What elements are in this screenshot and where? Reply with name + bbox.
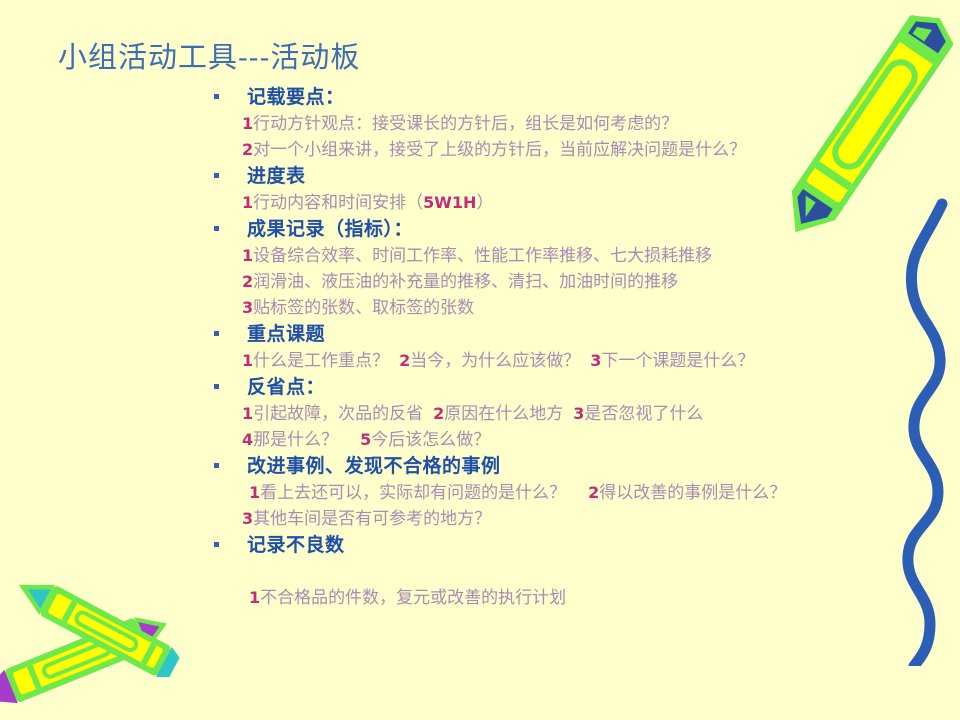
item-number: 4 [242, 430, 253, 449]
item-number: 2 [399, 351, 410, 370]
bullet-square-icon [214, 542, 219, 547]
item-text: 那是什么？ [253, 430, 338, 450]
item-number: 2 [242, 140, 253, 159]
outline-block: 重点课题1什么是工作重点？2当今，为什么应该做？3下一个课题是什么？ [205, 321, 945, 374]
item-text: 引起故障，次品的反省 [253, 404, 423, 424]
item-number: 2 [433, 404, 444, 423]
crossed-pencils-icon [0, 556, 196, 720]
bullet-square-icon [214, 94, 219, 99]
outline-heading-label: 反省点： [247, 374, 325, 401]
item-number: 5 [360, 430, 371, 449]
outline-heading-label: 进度表 [247, 163, 306, 190]
outline-block: 成果记录（指标）：1设备综合效率、时间工作率、性能工作率推移、七大损耗推移2润滑… [205, 216, 945, 321]
outline-item-row: 1行动内容和时间安排（5W1H） [205, 190, 945, 216]
page-title: 小组活动工具---活动板 [58, 34, 360, 76]
outline-item-row: 3其他车间是否有可参考的地方？ [205, 506, 945, 532]
item-number: 3 [590, 351, 601, 370]
outline-heading-row: 成果记录（指标）： [205, 216, 945, 243]
outline-heading-row: 记录不良数 [205, 532, 945, 559]
item-text: 其他车间是否有可参考的地方？ [253, 509, 491, 529]
outline-item-row: 1引起故障，次品的反省2原因在什么地方3是否忽视了什么 [205, 401, 945, 427]
outline-item-row: 1什么是工作重点？2当今，为什么应该做？3下一个课题是什么？ [205, 348, 945, 374]
bullet-square-icon [214, 463, 219, 468]
outline-block: 记载要点：1行动方针观点：接受课长的方针后，组长是如何考虑的？2对一个小组来讲，… [205, 84, 945, 163]
item-number: 1 [249, 588, 260, 607]
item-number: 2 [242, 272, 253, 291]
item-number: 2 [588, 483, 599, 502]
item-number: 1 [249, 483, 260, 502]
outline-heading-row: 反省点： [205, 374, 945, 401]
bullet-square-icon [214, 331, 219, 336]
outline-heading-label: 成果记录（指标）： [247, 216, 413, 243]
outline-heading-label: 记载要点： [247, 84, 345, 111]
item-text: 设备综合效率、时间工作率、性能工作率推移、七大损耗推移 [253, 246, 712, 266]
outline-heading-label: 重点课题 [247, 321, 325, 348]
outline-heading-label: 改进事例、发现不合格的事例 [247, 453, 501, 480]
item-number: 3 [242, 509, 253, 528]
outline-item-row: 1不合格品的件数，复元或改善的执行计划 [205, 585, 945, 611]
outline-block: 改进事例、发现不合格的事例1看上去还可以，实际却有问题的是什么？2得以改善的事例… [205, 453, 945, 532]
item-text: 当今，为什么应该做？ [410, 351, 580, 371]
outline-item-row: 4那是什么？5今后该怎么做？ [205, 427, 945, 453]
item-text: 什么是工作重点？ [253, 351, 389, 371]
item-text: 是否忽视了什么 [584, 404, 703, 424]
item-text: 贴标签的张数、取标签的张数 [253, 298, 474, 318]
outline-item-row: 3贴标签的张数、取标签的张数 [205, 295, 945, 321]
slide-canvas: 小组活动工具---活动板 记载要点：1行动方针观点：接受课长的方针后，组长是如何… [0, 0, 960, 720]
item-text: 原因在什么地方 [444, 404, 563, 424]
outline-item-row: 1看上去还可以，实际却有问题的是什么？2得以改善的事例是什么？ [205, 480, 945, 506]
item-number: 3 [573, 404, 584, 423]
bullet-square-icon [214, 226, 219, 231]
outline-block: 进度表1行动内容和时间安排（5W1H） [205, 163, 945, 216]
item-number: 3 [242, 298, 253, 317]
item-text: 对一个小组来讲，接受了上级的方针后，当前应解决问题是什么？ [253, 140, 746, 160]
item-text: 不合格品的件数，复元或改善的执行计划 [260, 588, 566, 608]
bullet-square-icon [214, 384, 219, 389]
outline-item-row: 1行动方针观点：接受课长的方针后，组长是如何考虑的？ [205, 111, 945, 137]
bullet-square-icon [214, 173, 219, 178]
outline-heading-row: 记载要点： [205, 84, 945, 111]
item-text: 行动内容和时间安排（ [253, 193, 423, 213]
outline-heading-row: 改进事例、发现不合格的事例 [205, 453, 945, 480]
item-number: 1 [242, 246, 253, 265]
outline-item-row: 1设备综合效率、时间工作率、性能工作率推移、七大损耗推移 [205, 243, 945, 269]
item-number: 1 [242, 114, 253, 133]
outline-heading-row: 进度表 [205, 163, 945, 190]
item-number: 1 [242, 193, 253, 212]
item-text-tail: ） [476, 193, 493, 213]
item-text: 今后该怎么做？ [371, 430, 490, 450]
outline-spacer [205, 559, 945, 585]
item-accent-text: 5W1H [423, 193, 476, 212]
outline-block: 反省点：1引起故障，次品的反省2原因在什么地方3是否忽视了什么4那是什么？5今后… [205, 374, 945, 453]
outline-item-row: 2对一个小组来讲，接受了上级的方针后，当前应解决问题是什么？ [205, 137, 945, 163]
item-text: 得以改善的事例是什么？ [599, 483, 786, 503]
outline-heading-row: 重点课题 [205, 321, 945, 348]
outline-item-row: 2润滑油、液压油的补充量的推移、清扫、加油时间的推移 [205, 269, 945, 295]
item-text: 行动方针观点：接受课长的方针后，组长是如何考虑的？ [253, 114, 678, 134]
outline-block: 记录不良数1不合格品的件数，复元或改善的执行计划 [205, 532, 945, 611]
item-text: 润滑油、液压油的补充量的推移、清扫、加油时间的推移 [253, 272, 678, 292]
item-text: 下一个课题是什么？ [601, 351, 754, 371]
item-text: 看上去还可以，实际却有问题的是什么？ [260, 483, 566, 503]
item-number: 1 [242, 404, 253, 423]
content-list: 记载要点：1行动方针观点：接受课长的方针后，组长是如何考虑的？2对一个小组来讲，… [205, 84, 945, 611]
outline-heading-label: 记录不良数 [247, 532, 345, 559]
item-number: 1 [242, 351, 253, 370]
